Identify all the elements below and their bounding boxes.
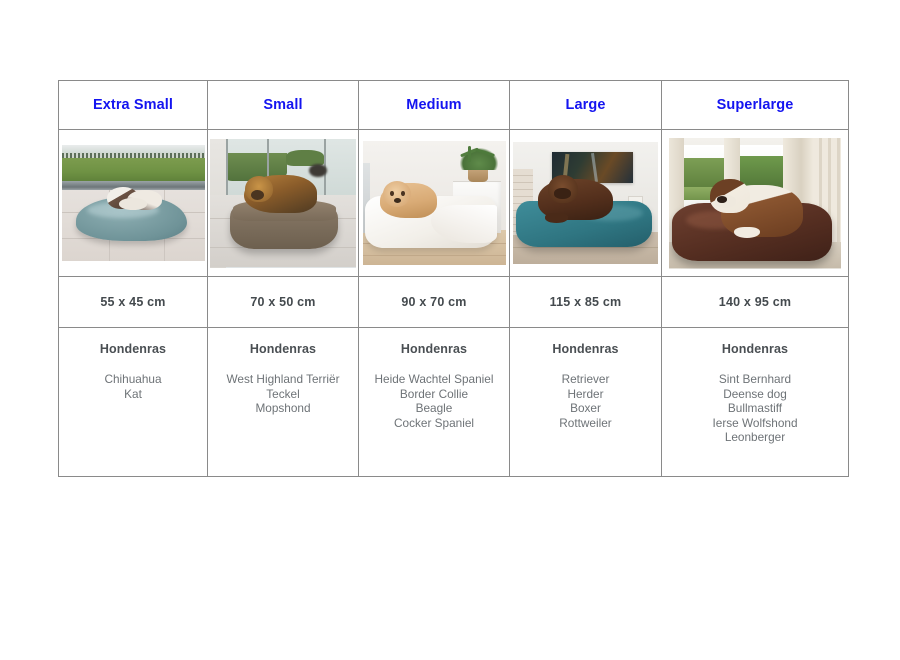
breed-list-superlarge: Sint BernhardDeense dogBullmastiffIerse …	[662, 372, 848, 445]
breed-name: Leonberger	[662, 430, 848, 445]
photo-wrap-medium	[359, 130, 509, 276]
product-photo-extra-small	[62, 145, 205, 261]
photo-cell-large	[510, 130, 662, 277]
breeds-cell-small: Hondenras West Highland TerriërTeckelMop…	[208, 328, 359, 477]
dimensions-medium: 90 x 70 cm	[359, 277, 510, 328]
size-chart-page: Extra Small Small Medium Large Superlarg…	[0, 0, 900, 660]
product-photo-medium	[363, 141, 506, 265]
dimensions-large: 115 x 85 cm	[510, 277, 662, 328]
breed-name: Deense dog	[662, 387, 848, 402]
breed-title-medium: Hondenras	[359, 342, 509, 356]
breed-list-extra-small: ChihuahuaKat	[59, 372, 207, 401]
table-image-row	[59, 130, 849, 277]
breed-list-small: West Highland TerriërTeckelMopshond	[208, 372, 358, 416]
breed-name: Beagle	[359, 401, 509, 416]
table-header-row: Extra Small Small Medium Large Superlarg…	[59, 81, 849, 130]
product-photo-small	[210, 139, 356, 268]
column-header-large: Large	[510, 81, 662, 130]
breed-name: Kat	[59, 387, 207, 402]
breed-name: Boxer	[510, 401, 661, 416]
breed-list-large: RetrieverHerderBoxerRottweiler	[510, 372, 661, 430]
breed-name: Mopshond	[208, 401, 358, 416]
column-header-superlarge: Superlarge	[662, 81, 849, 130]
photo-wrap-extra-small	[59, 130, 207, 276]
product-photo-superlarge	[669, 138, 841, 269]
dog-bed-size-table: Extra Small Small Medium Large Superlarg…	[58, 80, 849, 477]
breed-name: Heide Wachtel Spaniel	[359, 372, 509, 387]
product-photo-large	[513, 142, 658, 264]
breed-title-large: Hondenras	[510, 342, 661, 356]
breed-name: Sint Bernhard	[662, 372, 848, 387]
breed-title-extra-small: Hondenras	[59, 342, 207, 356]
breed-name: Bullmastiff	[662, 401, 848, 416]
photo-cell-extra-small	[59, 130, 208, 277]
column-header-small: Small	[208, 81, 359, 130]
breeds-cell-large: Hondenras RetrieverHerderBoxerRottweiler	[510, 328, 662, 477]
breeds-cell-extra-small: Hondenras ChihuahuaKat	[59, 328, 208, 477]
photo-cell-small	[208, 130, 359, 277]
breed-name: Cocker Spaniel	[359, 416, 509, 431]
column-header-medium: Medium	[359, 81, 510, 130]
breed-title-superlarge: Hondenras	[662, 342, 848, 356]
dimensions-extra-small: 55 x 45 cm	[59, 277, 208, 328]
dimensions-superlarge: 140 x 95 cm	[662, 277, 849, 328]
breed-name: Herder	[510, 387, 661, 402]
breed-title-small: Hondenras	[208, 342, 358, 356]
breeds-cell-superlarge: Hondenras Sint BernhardDeense dogBullmas…	[662, 328, 849, 477]
breed-name: Border Collie	[359, 387, 509, 402]
breeds-cell-medium: Hondenras Heide Wachtel SpanielBorder Co…	[359, 328, 510, 477]
breed-name: West Highland Terriër	[208, 372, 358, 387]
breed-name: Teckel	[208, 387, 358, 402]
photo-cell-medium	[359, 130, 510, 277]
photo-wrap-large	[510, 130, 661, 276]
breed-name: Ierse Wolfshond	[662, 416, 848, 431]
breed-name: Retriever	[510, 372, 661, 387]
breed-name: Chihuahua	[59, 372, 207, 387]
column-header-extra-small: Extra Small	[59, 81, 208, 130]
photo-wrap-small	[208, 130, 358, 276]
breed-name: Rottweiler	[510, 416, 661, 431]
dimensions-small: 70 x 50 cm	[208, 277, 359, 328]
table-breeds-row: Hondenras ChihuahuaKat Hondenras West Hi…	[59, 328, 849, 477]
photo-wrap-superlarge	[662, 130, 848, 276]
table-dimensions-row: 55 x 45 cm 70 x 50 cm 90 x 70 cm 115 x 8…	[59, 277, 849, 328]
breed-list-medium: Heide Wachtel SpanielBorder CollieBeagle…	[359, 372, 509, 430]
photo-cell-superlarge	[662, 130, 849, 277]
